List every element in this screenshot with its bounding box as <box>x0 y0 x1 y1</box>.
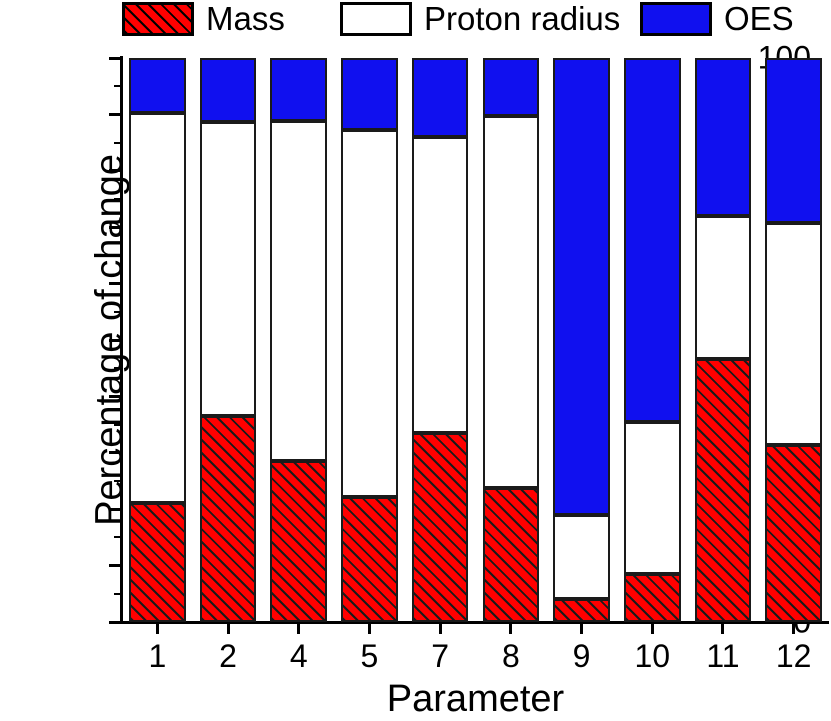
x-tick-label: 9 <box>573 638 591 675</box>
y-tick-major <box>109 564 122 567</box>
bar-segment-mass[interactable] <box>483 488 540 622</box>
y-tick-minor <box>114 536 122 538</box>
y-tick-minor <box>114 85 122 87</box>
bar-segment-mass[interactable] <box>270 461 327 622</box>
bar-segment-oes[interactable] <box>624 58 681 422</box>
x-tick-label: 2 <box>219 638 237 675</box>
bar-segment-oes[interactable] <box>341 58 398 130</box>
bar-stack[interactable] <box>483 58 540 622</box>
bar-stack[interactable] <box>553 58 610 622</box>
bar-stack[interactable] <box>412 58 469 622</box>
bar-stack[interactable] <box>765 58 822 622</box>
bar-segment-mass[interactable] <box>200 416 257 622</box>
bar-segment-proton-radius[interactable] <box>553 515 610 599</box>
y-tick-minor <box>114 254 122 256</box>
bar-stack[interactable] <box>200 58 257 622</box>
bar-segment-proton-radius[interactable] <box>200 122 257 416</box>
bar-stack[interactable] <box>341 58 398 622</box>
bar-stack[interactable] <box>270 58 327 622</box>
y-tick-major <box>109 169 122 172</box>
mass-swatch <box>122 2 194 36</box>
bar-stack[interactable] <box>624 58 681 622</box>
bar-segment-proton-radius[interactable] <box>624 422 681 574</box>
y-tick-major <box>109 113 122 116</box>
bar-segment-oes[interactable] <box>129 58 186 113</box>
legend-item-mass: Mass <box>122 2 285 36</box>
x-tick-label: 8 <box>502 638 520 675</box>
bar-segment-proton-radius[interactable] <box>695 216 752 359</box>
y-tick-major <box>109 395 122 398</box>
y-tick-minor <box>114 367 122 369</box>
bar-segment-oes[interactable] <box>483 58 540 116</box>
y-tick-minor <box>114 198 122 200</box>
bar-segment-mass[interactable] <box>412 433 469 622</box>
bar-segment-oes[interactable] <box>553 58 610 515</box>
bar-segment-proton-radius[interactable] <box>270 121 327 461</box>
bar-segment-proton-radius[interactable] <box>341 130 398 497</box>
x-tick <box>651 622 654 634</box>
y-tick-major <box>109 339 122 342</box>
bar-segment-mass[interactable] <box>553 599 610 622</box>
y-tick-minor <box>114 142 122 144</box>
chart-root: Mass Proton radius OES Percentage of cha… <box>0 0 831 714</box>
bar-segment-mass[interactable] <box>765 445 822 622</box>
x-tick <box>439 622 442 634</box>
bar-segment-oes[interactable] <box>695 58 752 216</box>
x-tick <box>580 622 583 634</box>
x-tick-label: 7 <box>431 638 449 675</box>
x-tick-label: 11 <box>706 638 739 675</box>
bar-segment-mass[interactable] <box>624 574 681 622</box>
x-tick <box>227 622 230 634</box>
y-tick-minor <box>114 424 122 426</box>
bar-segment-oes[interactable] <box>412 58 469 137</box>
bar-segment-mass[interactable] <box>695 359 752 622</box>
bar-segment-mass[interactable] <box>129 503 186 622</box>
x-tick <box>721 622 724 634</box>
legend-label-proton-radius: Proton radius <box>424 2 620 36</box>
x-axis-title: Parameter <box>122 678 829 721</box>
x-tick-label: 4 <box>290 638 308 675</box>
x-tick <box>792 622 795 634</box>
legend-label-mass: Mass <box>206 2 285 36</box>
y-tick-major <box>109 226 122 229</box>
bar-segment-proton-radius[interactable] <box>129 113 186 503</box>
y-tick-major <box>109 57 122 60</box>
proton-radius-swatch <box>340 2 412 36</box>
bar-segment-oes[interactable] <box>270 58 327 121</box>
oes-swatch <box>640 2 712 36</box>
y-tick-major <box>109 282 122 285</box>
y-tick-major <box>109 508 122 511</box>
chart-legend: Mass Proton radius OES <box>0 0 831 44</box>
x-tick-label: 10 <box>634 638 670 675</box>
y-tick-major <box>109 621 122 624</box>
plot-area: Percentage of change Parameter 010203040… <box>122 58 829 622</box>
x-tick-label: 12 <box>776 638 812 675</box>
x-tick-label: 5 <box>361 638 379 675</box>
bar-stack[interactable] <box>129 58 186 622</box>
bar-segment-mass[interactable] <box>341 497 398 622</box>
y-tick-major <box>109 451 122 454</box>
legend-item-proton-radius: Proton radius <box>340 2 620 36</box>
x-tick <box>368 622 371 634</box>
bar-segment-oes[interactable] <box>200 58 257 122</box>
legend-label-oes: OES <box>724 2 794 36</box>
bar-segment-proton-radius[interactable] <box>765 223 822 446</box>
y-tick-minor <box>114 311 122 313</box>
bar-stack[interactable] <box>695 58 752 622</box>
bar-segment-proton-radius[interactable] <box>412 137 469 433</box>
y-tick-minor <box>114 480 122 482</box>
y-tick-minor <box>114 593 122 595</box>
x-tick <box>509 622 512 634</box>
x-tick-label: 1 <box>148 638 166 675</box>
bar-segment-oes[interactable] <box>765 58 822 223</box>
x-tick <box>156 622 159 634</box>
legend-item-oes: OES <box>640 2 794 36</box>
bar-segment-proton-radius[interactable] <box>483 116 540 489</box>
x-tick <box>297 622 300 634</box>
